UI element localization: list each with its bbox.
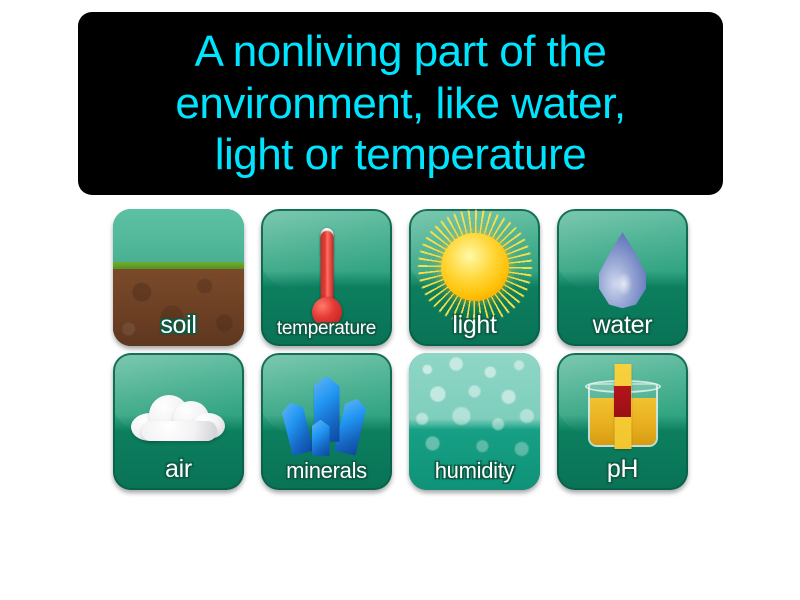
water-droplets-icon bbox=[409, 353, 540, 490]
example-tile-grid: soil temperature light bbox=[113, 209, 688, 490]
flashcard: A nonliving part of the environment, lik… bbox=[0, 0, 800, 600]
tile-water[interactable]: water bbox=[557, 209, 688, 346]
tile-air[interactable]: air bbox=[113, 353, 244, 490]
beaker-icon bbox=[557, 353, 688, 490]
water-drop-icon bbox=[557, 209, 688, 346]
tile-minerals[interactable]: minerals bbox=[261, 353, 392, 490]
tile-soil[interactable]: soil bbox=[113, 209, 244, 346]
definition-text: A nonliving part of the environment, lik… bbox=[161, 26, 639, 182]
sun-icon bbox=[409, 209, 540, 346]
soil-icon bbox=[113, 209, 244, 346]
tile-temperature[interactable]: temperature bbox=[261, 209, 392, 346]
tile-light[interactable]: light bbox=[409, 209, 540, 346]
crystals-icon bbox=[261, 353, 392, 490]
cloud-icon bbox=[113, 353, 244, 490]
tile-ph[interactable]: pH bbox=[557, 353, 688, 490]
thermometer-icon bbox=[261, 209, 392, 346]
tile-humidity[interactable]: humidity bbox=[409, 353, 540, 490]
definition-banner: A nonliving part of the environment, lik… bbox=[78, 12, 723, 195]
